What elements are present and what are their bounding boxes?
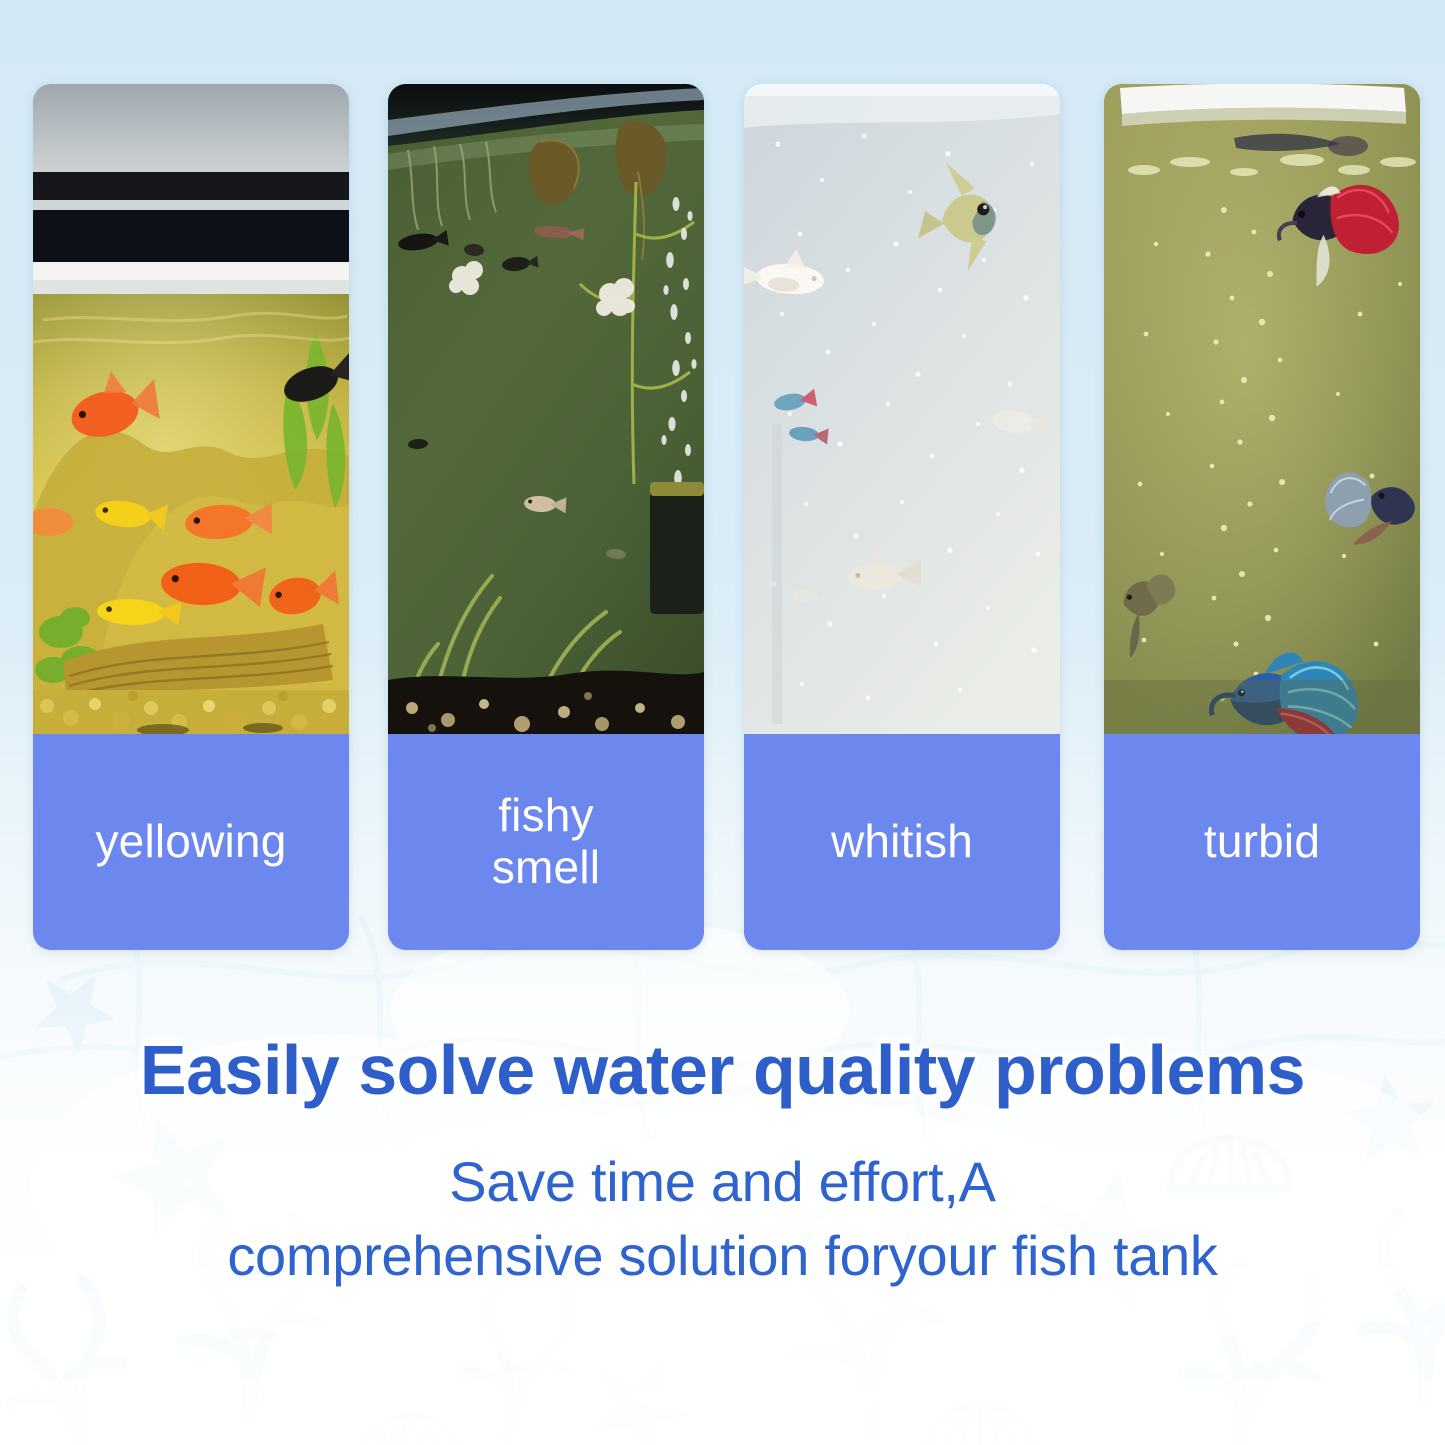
card-label-band: fishy smell [388,734,704,950]
aquarium-yellow-water-goldfish-photo [33,84,349,734]
page-title: Easily solve water quality problems [0,1035,1445,1105]
card-label-turbid: turbid [1194,816,1330,868]
aquarium-green-murky-water-bubbles-photo [388,84,704,734]
card-label-fishy-smell: fishy smell [482,790,610,893]
card-label-yellowing: yellowing [85,816,296,868]
problem-card-whitish[interactable]: whitish [744,84,1060,950]
problem-card-turbid[interactable]: turbid [1104,84,1420,950]
card-label-whitish: whitish [821,816,983,868]
card-label-band: whitish [744,734,1060,950]
problem-card-fishy-smell[interactable]: fishy smell [388,84,704,950]
page-subtitle: Save time and effort,A comprehensive sol… [0,1145,1445,1293]
aquarium-turbid-olive-water-betta-photo [1104,84,1420,734]
card-label-band: yellowing [33,734,349,950]
problem-card-row: yellowing [0,0,1445,960]
headline-block: Easily solve water quality problems Save… [0,1035,1445,1293]
card-label-band: turbid [1104,734,1420,950]
aquarium-cloudy-white-water-angelfish-photo [744,84,1060,734]
problem-card-yellowing[interactable]: yellowing [33,84,349,950]
